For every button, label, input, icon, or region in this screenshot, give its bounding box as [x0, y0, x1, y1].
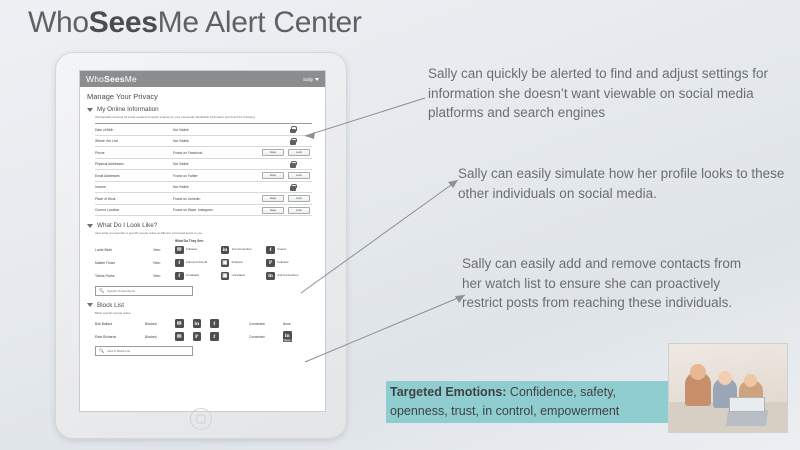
search-icon: 🔍: [99, 288, 104, 294]
network-status: ▣Unrelated: [221, 272, 267, 281]
facebook-icon[interactable]: f: [210, 332, 219, 341]
blocked-label: Blocked:: [145, 322, 175, 326]
emotions-label: Targeted Emotions:: [390, 385, 506, 399]
pinterest-icon[interactable]: P: [193, 332, 202, 341]
info-value: Found on Facebook: [173, 151, 254, 155]
status-label: Follower: [232, 261, 243, 265]
status-label: 2nd Connection: [277, 274, 298, 278]
list-item: Lucile BluthView:✉Followerin1st Connecti…: [95, 244, 312, 257]
network-status: ✉Follower: [175, 246, 221, 255]
info-actions: KeepLock: [254, 172, 312, 179]
table-row: Email AddressesFound on TwitterKeepLock: [95, 170, 312, 182]
list-item: Maebe FünkeView:fFriend of Friend▣Follow…: [95, 257, 312, 270]
status-label: Unrelated: [186, 274, 199, 278]
add-to-block-list-input[interactable]: 🔍 Add to Block List: [95, 346, 193, 356]
info-actions: [254, 161, 312, 168]
linkedin-icon[interactable]: in: [283, 331, 292, 340]
info-actions: [254, 138, 312, 145]
title-suffix: Me Alert Center: [158, 6, 362, 39]
section-description: WhoSeesMe scanned all social media and s…: [80, 114, 325, 121]
info-actions: [254, 126, 312, 133]
linkedin-icon[interactable]: in: [221, 246, 230, 255]
keep-button[interactable]: Keep: [262, 172, 284, 179]
table-row: Current LocationFound on Waze, Instagram…: [95, 205, 312, 217]
page-title: WhoSeesMe Alert Center: [28, 6, 362, 40]
network-status: fUnrelated: [175, 272, 221, 281]
list-item: Elsie RichardsBlocked:✉PfConnected:inBlo…: [95, 330, 312, 343]
lock-button[interactable]: Lock: [288, 172, 310, 179]
stock-photo: [668, 343, 788, 433]
network-status: in2nd Connection: [266, 272, 312, 281]
title-prefix: Who: [28, 6, 89, 39]
callout-text-1: Sally can quickly be alerted to find and…: [428, 64, 773, 123]
brand-prefix: Who: [86, 74, 104, 84]
title-bold: Sees: [89, 6, 158, 39]
blocked-networks: ✉Pf: [175, 332, 249, 341]
contact-name: Elsie Richards: [95, 335, 145, 339]
contact-name: Bob Ballard: [95, 322, 145, 326]
lock-icon: [290, 138, 296, 145]
section-description: View what you look like to specific peop…: [80, 230, 325, 237]
section-my-online-information[interactable]: My Online Information: [80, 104, 325, 114]
facebook-icon[interactable]: f: [175, 272, 184, 281]
photo-person-3-head: [744, 374, 757, 387]
section-block-list[interactable]: Block List: [80, 300, 325, 310]
connected-network[interactable]: inBlock: [283, 331, 292, 342]
callout-text-3: Sally can easily add and remove contacts…: [462, 254, 757, 313]
table-row: Place of WorkFound on LinkedInKeepLock: [95, 193, 312, 205]
network-status: fFriend: [266, 246, 312, 255]
network-status: fFriend of Friend: [175, 259, 221, 268]
privacy-table: Date of BirthNot VisibleWhere You LiveNo…: [95, 123, 312, 216]
user-name: Sally: [303, 77, 313, 82]
info-label: Place of Work: [95, 197, 173, 201]
block-list-rows: Bob BallardBlocked:✉infConnected:NoneEls…: [80, 317, 325, 343]
list-item: Bob BallardBlocked:✉infConnected:None: [95, 317, 312, 330]
twitter-icon[interactable]: ✉: [175, 332, 184, 341]
view-label[interactable]: View:: [153, 261, 175, 265]
view-label[interactable]: View:: [153, 274, 175, 278]
pinterest-icon[interactable]: P: [266, 259, 275, 268]
info-label: Date of Birth: [95, 128, 173, 132]
twitter-icon[interactable]: ✉: [175, 246, 184, 255]
facebook-icon[interactable]: f: [210, 319, 219, 328]
contact-name: Tobias Fünke: [95, 274, 153, 278]
status-label: Follower: [277, 261, 288, 265]
network-status: ▣Follower: [221, 259, 267, 268]
info-label: Physical Addresses: [95, 162, 173, 166]
targeted-emotions-banner: Targeted Emotions: Confidence, safety, o…: [386, 381, 672, 423]
table-row: IncomeNot Visible: [95, 182, 312, 194]
blocked-label: Blocked:: [145, 335, 175, 339]
info-value: Found on LinkedIn: [173, 197, 254, 201]
app-brand: WhoSeesMe: [86, 74, 137, 84]
keep-button[interactable]: Keep: [262, 195, 284, 202]
table-row: Where You LiveNot Visible: [95, 136, 312, 148]
section-label: My Online Information: [97, 106, 159, 113]
search-connections-input[interactable]: 🔍 Search Connections: [95, 286, 193, 296]
twitter-icon[interactable]: ✉: [175, 319, 184, 328]
photo-laptop-screen: [729, 397, 765, 412]
info-label: Email Addresses: [95, 174, 173, 178]
section-what-do-i-look-like[interactable]: What Do I Look Like?: [80, 220, 325, 230]
info-label: Current Location: [95, 208, 173, 212]
network-status: PFollower: [266, 259, 312, 268]
info-label: Phone: [95, 151, 173, 155]
connected-label: Connected:: [249, 322, 283, 326]
instagram-icon[interactable]: ▣: [221, 259, 230, 268]
chevron-down-icon: [315, 78, 319, 81]
app-header: WhoSeesMe Sally: [80, 71, 325, 87]
photo-laptop-base: [726, 410, 768, 426]
info-actions: KeepLock: [254, 149, 312, 156]
keep-button[interactable]: Keep: [262, 149, 284, 156]
search-placeholder: Search Connections: [107, 289, 135, 293]
status-label: Unrelated: [232, 274, 245, 278]
table-row: PhoneFound on FacebookKeepLock: [95, 147, 312, 159]
triangle-down-icon: [87, 303, 93, 307]
info-label: Where You Live: [95, 139, 173, 143]
lock-icon: [290, 184, 296, 191]
list-item: Tobias FünkeView:fUnrelated▣Unrelatedin2…: [95, 270, 312, 283]
photo-person-2-head: [718, 371, 732, 385]
info-value: Not Visible: [173, 162, 254, 166]
search-placeholder: Add to Block List: [107, 349, 130, 353]
lock-icon: [290, 126, 296, 133]
linkedin-icon[interactable]: in: [193, 319, 202, 328]
section-label: Block List: [97, 302, 124, 309]
lock-icon: [290, 161, 296, 168]
lock-button[interactable]: Lock: [288, 149, 310, 156]
network-status: in1st Connection: [221, 246, 267, 255]
instagram-icon[interactable]: ▣: [221, 272, 230, 281]
status-label: Follower: [186, 248, 197, 252]
status-label: Friend of Friend: [186, 261, 207, 265]
look-like-rows: Lucile BluthView:✉Followerin1st Connecti…: [80, 244, 325, 283]
info-actions: [254, 184, 312, 191]
facebook-icon[interactable]: f: [175, 259, 184, 268]
linkedin-icon[interactable]: in: [266, 272, 275, 281]
lock-button[interactable]: Lock: [288, 195, 310, 202]
triangle-down-icon: [87, 108, 93, 112]
block-caption[interactable]: Block: [283, 340, 292, 342]
section-description: Block specific people online.: [80, 310, 325, 317]
tablet-screen: WhoSeesMe Sally Manage Your Privacy My O…: [79, 70, 326, 412]
brand-suffix: Me: [125, 74, 137, 84]
table-row: Date of BirthNot Visible: [95, 124, 312, 136]
brand-bold: Sees: [104, 74, 125, 84]
view-label[interactable]: View:: [153, 248, 175, 252]
contact-name: Maebe Fünke: [95, 261, 153, 265]
app-page-title: Manage Your Privacy: [80, 87, 325, 104]
photo-person-1-head: [690, 364, 706, 380]
connected-label: Connected:: [249, 335, 283, 339]
info-label: Income: [95, 185, 173, 189]
callout-text-2: Sally can easily simulate how her profil…: [458, 164, 788, 203]
blocked-networks: ✉inf: [175, 319, 249, 328]
info-value: Not Visible: [173, 139, 254, 143]
connected-value: inBlock: [283, 331, 312, 342]
home-button[interactable]: [190, 408, 212, 430]
home-square-icon: [197, 415, 206, 424]
facebook-icon[interactable]: f: [266, 246, 275, 255]
info-actions: KeepLock: [254, 207, 312, 214]
keep-button[interactable]: Keep: [262, 207, 284, 214]
info-value: Not Visible: [173, 128, 254, 132]
tablet-frame: WhoSeesMe Sally Manage Your Privacy My O…: [55, 52, 347, 439]
info-value: Found on Waze, Instagram: [173, 208, 254, 212]
status-label: Friend: [277, 248, 286, 252]
search-icon: 🔍: [99, 348, 104, 354]
table-row: Physical AddressesNot Visible: [95, 159, 312, 171]
what-they-see-label: What Do They See:: [175, 239, 204, 243]
contact-name: Lucile Bluth: [95, 248, 153, 252]
info-actions: KeepLock: [254, 195, 312, 202]
lock-button[interactable]: Lock: [288, 207, 310, 214]
info-value: Not Visible: [173, 185, 254, 189]
info-value: Found on Twitter: [173, 174, 254, 178]
section-label: What Do I Look Like?: [97, 222, 157, 229]
connected-value: None: [283, 322, 312, 326]
status-label: 1st Connection: [232, 248, 252, 252]
triangle-down-icon: [87, 224, 93, 228]
user-menu[interactable]: Sally: [303, 77, 319, 82]
